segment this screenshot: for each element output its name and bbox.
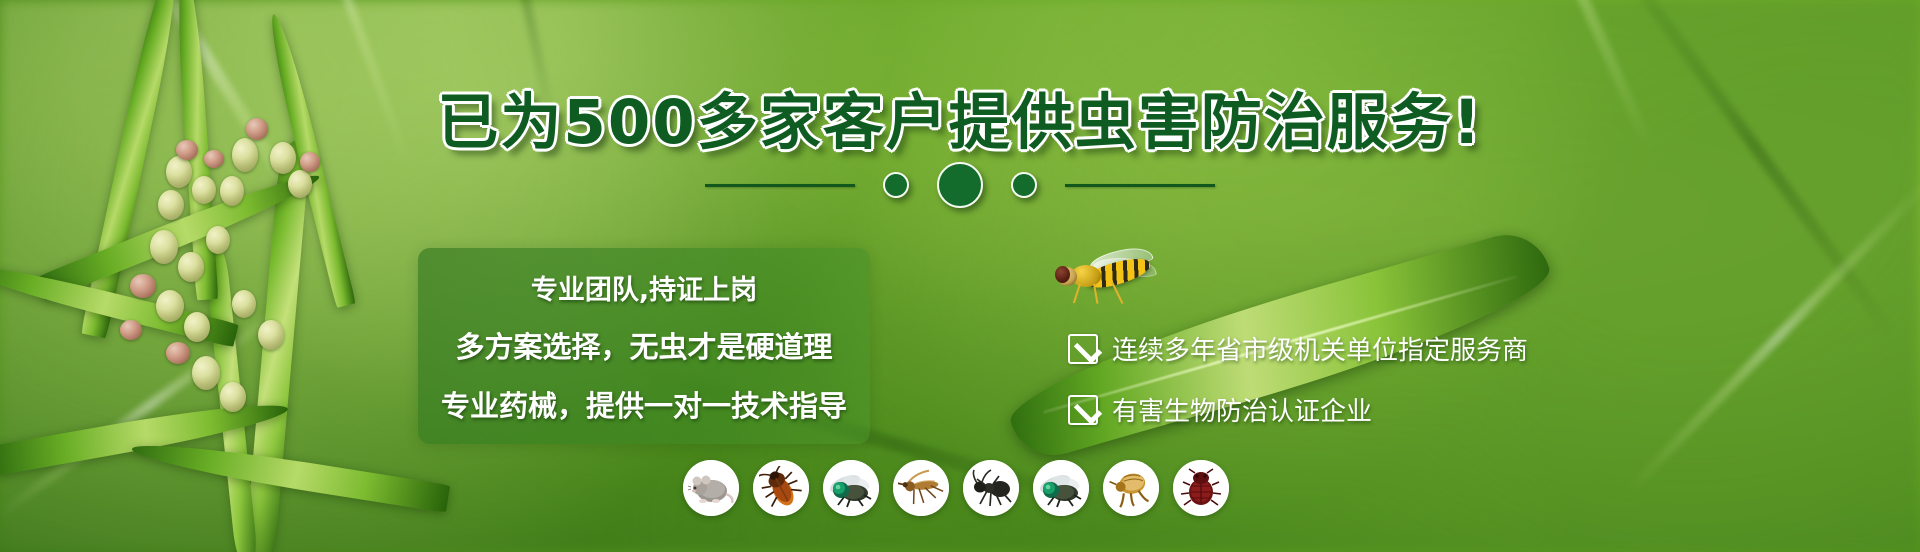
ornament-line-left: [705, 184, 855, 187]
credential-text: 有害生物防治认证企业: [1112, 391, 1372, 428]
mouse-icon[interactable]: [683, 460, 739, 516]
ant-icon[interactable]: [963, 460, 1019, 516]
panel-line-2: 多方案选择，无虫才是硬道理: [455, 324, 832, 366]
ornament-divider: [0, 168, 1920, 202]
list-item: 有害生物防治认证企业: [1068, 391, 1528, 428]
cockroach-icon[interactable]: [753, 460, 809, 516]
ornament-dot-small: [1011, 172, 1037, 198]
features-panel: 专业团队,持证上岗 多方案选择，无虫才是硬道理 专业药械，提供一对一技术指导: [418, 248, 870, 444]
pest-icon-row: [683, 460, 1229, 516]
mosquito-icon[interactable]: [893, 460, 949, 516]
panel-line-1: 专业团队,持证上岗: [531, 268, 757, 307]
credentials-list: 连续多年省市级机关单位指定服务商 有害生物防治认证企业: [1068, 330, 1528, 428]
fly-icon[interactable]: [823, 460, 879, 516]
panel-line-3: 专业药械，提供一对一技术指导: [441, 383, 847, 425]
list-item: 连续多年省市级机关单位指定服务商: [1068, 330, 1528, 367]
ornament-dot-large: [937, 162, 983, 208]
credential-text: 连续多年省市级机关单位指定服务商: [1112, 330, 1528, 367]
bedbug-icon[interactable]: [1173, 460, 1229, 516]
fly-icon[interactable]: [1033, 460, 1089, 516]
hoverfly-insect: [1045, 248, 1165, 308]
page-title: 已为500多家客户提供虫害防治服务!: [0, 72, 1920, 161]
checkbox-checked-icon: [1068, 334, 1098, 364]
checkbox-checked-icon: [1068, 395, 1098, 425]
ornament-dot-small: [883, 172, 909, 198]
ornament-line-right: [1065, 184, 1215, 187]
flea-icon[interactable]: [1103, 460, 1159, 516]
promo-banner: 已为500多家客户提供虫害防治服务! 专业团队,持证上岗 多方案选择，无虫才是硬…: [0, 0, 1920, 552]
insect-eye: [1055, 266, 1070, 283]
